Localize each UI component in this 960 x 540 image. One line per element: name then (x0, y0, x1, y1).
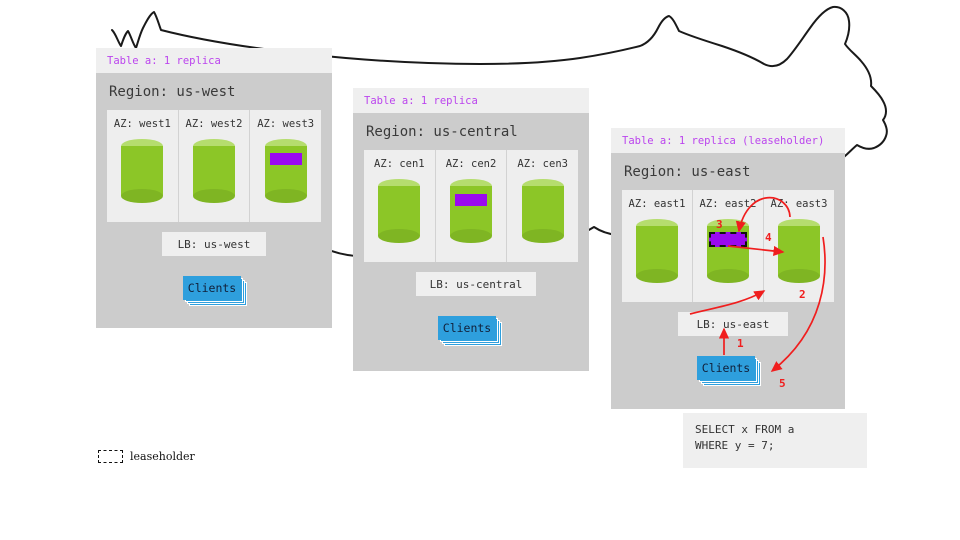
clients-label[interactable]: Clients (697, 356, 755, 380)
az-row: AZ: west1 AZ: west2 AZ: west3 (107, 110, 321, 222)
region-panel-us-east: Table a: 1 replica (leaseholder) Region:… (611, 128, 845, 409)
replica-cylinder[interactable] (121, 139, 163, 203)
az-label: AZ: west2 (186, 118, 243, 130)
cylinder-bottom (265, 189, 307, 203)
az-label: AZ: cen3 (517, 158, 568, 170)
replica-badge (270, 153, 302, 165)
dashed-box-icon (98, 450, 123, 463)
replica-cylinder[interactable] (265, 139, 307, 203)
arrow-step-label-3: 3 (716, 218, 723, 231)
arrow-step-label-4: 4 (765, 231, 772, 244)
load-balancer-us-east[interactable]: LB: us-east (678, 312, 788, 336)
arrow-step-label-1: 1 (737, 337, 744, 350)
az-label: AZ: west1 (114, 118, 171, 130)
sql-query-box: SELECT x FROM a WHERE y = 7; (683, 413, 867, 468)
az-cell-cen1[interactable]: AZ: cen1 (364, 150, 436, 262)
az-cell-east2[interactable]: AZ: east2 (693, 190, 764, 302)
az-label: AZ: cen1 (374, 158, 425, 170)
replica-cylinder[interactable] (778, 219, 820, 283)
replica-cylinder[interactable] (450, 179, 492, 243)
az-label: AZ: east3 (771, 198, 828, 210)
replica-badge (455, 194, 487, 206)
cylinder-bottom (636, 269, 678, 283)
clients-us-central[interactable]: Clients (438, 316, 500, 344)
az-row: AZ: east1 AZ: east2 AZ: east3 (622, 190, 834, 302)
cylinder-bottom (450, 229, 492, 243)
az-cell-cen2[interactable]: AZ: cen2 (436, 150, 508, 262)
az-row: AZ: cen1 AZ: cen2 AZ: cen3 (364, 150, 578, 262)
replica-cylinder[interactable] (707, 219, 749, 283)
region-panel-us-west: Table a: 1 replica Region: us-west AZ: w… (96, 48, 332, 328)
clients-us-west[interactable]: Clients (183, 276, 245, 304)
az-cell-cen3[interactable]: AZ: cen3 (507, 150, 578, 262)
region-title: Region: us-east (611, 153, 845, 190)
az-label: AZ: east2 (700, 198, 757, 210)
az-cell-west2[interactable]: AZ: west2 (179, 110, 251, 222)
az-label: AZ: cen2 (446, 158, 497, 170)
cylinder-bottom (193, 189, 235, 203)
region-panel-us-central: Table a: 1 replica Region: us-central AZ… (353, 88, 589, 371)
az-cell-east3[interactable]: AZ: east3 (764, 190, 834, 302)
az-label: AZ: east1 (629, 198, 686, 210)
region-header-label: Table a: 1 replica (leaseholder) (611, 128, 845, 153)
cylinder-bottom (778, 269, 820, 283)
load-balancer-us-central[interactable]: LB: us-central (416, 272, 536, 296)
legend-label: leaseholder (130, 450, 195, 463)
region-header-label: Table a: 1 replica (96, 48, 332, 73)
replica-cylinder[interactable] (522, 179, 564, 243)
diagram-canvas: Table a: 1 replica Region: us-west AZ: w… (0, 0, 960, 540)
region-header-label: Table a: 1 replica (353, 88, 589, 113)
cylinder-bottom (522, 229, 564, 243)
cylinder-bottom (707, 269, 749, 283)
clients-label[interactable]: Clients (183, 276, 241, 300)
az-cell-east1[interactable]: AZ: east1 (622, 190, 693, 302)
clients-us-east[interactable]: Clients (697, 356, 759, 384)
replica-cylinder[interactable] (636, 219, 678, 283)
clients-label[interactable]: Clients (438, 316, 496, 340)
region-title: Region: us-west (96, 73, 332, 110)
arrow-step-label-5: 5 (779, 377, 786, 390)
arrow-step-label-2: 2 (799, 288, 806, 301)
az-cell-west3[interactable]: AZ: west3 (250, 110, 321, 222)
region-title: Region: us-central (353, 113, 589, 150)
cylinder-bottom (121, 189, 163, 203)
az-cell-west1[interactable]: AZ: west1 (107, 110, 179, 222)
load-balancer-us-west[interactable]: LB: us-west (162, 232, 266, 256)
leaseholder-badge (709, 232, 747, 247)
az-label: AZ: west3 (257, 118, 314, 130)
legend-leaseholder: leaseholder (98, 450, 195, 463)
replica-cylinder[interactable] (378, 179, 420, 243)
cylinder-bottom (378, 229, 420, 243)
replica-cylinder[interactable] (193, 139, 235, 203)
